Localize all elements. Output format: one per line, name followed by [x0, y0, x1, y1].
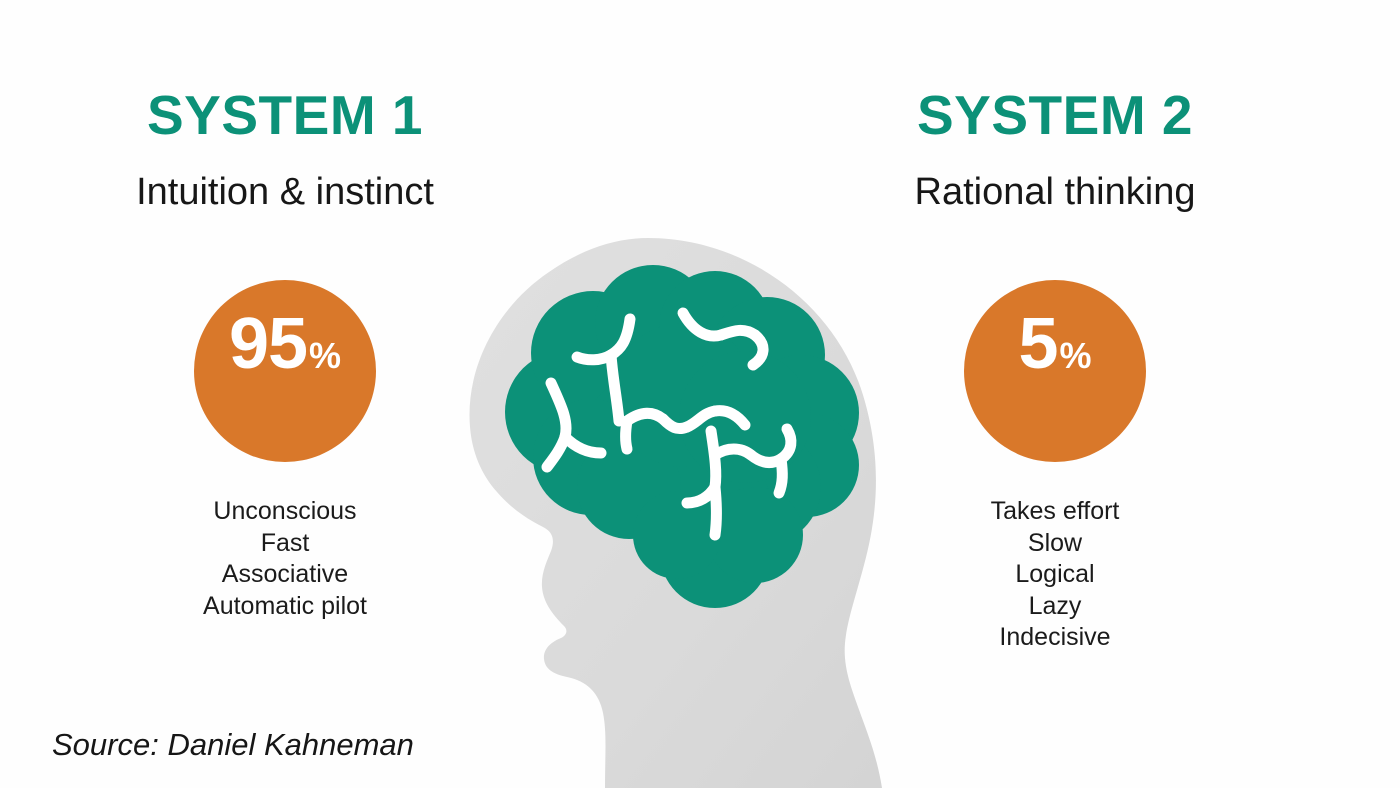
system-1-percent-value: 95: [229, 308, 307, 380]
system-1-percent-badge: 95 %: [194, 280, 376, 462]
system-1-column: SYSTEM 1 Intuition & instinct: [75, 88, 495, 211]
system-2-percent-sign: %: [1060, 338, 1092, 374]
system-1-percent-wrap: 95 %: [75, 280, 495, 462]
system-2-title: SYSTEM 2: [845, 88, 1265, 143]
list-item: Lazy: [845, 591, 1265, 623]
source-attribution: Source: Daniel Kahneman: [52, 727, 414, 763]
list-item: Unconscious: [75, 496, 495, 528]
list-item: Automatic pilot: [75, 591, 495, 623]
list-item: Takes effort: [845, 496, 1265, 528]
infographic-canvas: SYSTEM 1 Intuition & instinct 95 % Uncon…: [0, 0, 1400, 788]
system-2-percent-value: 5: [1018, 308, 1057, 380]
list-item: Slow: [845, 528, 1265, 560]
list-item: Associative: [75, 559, 495, 591]
system-1-percent-sign: %: [309, 338, 341, 374]
system-1-subtitle: Intuition & instinct: [75, 173, 495, 211]
system-2-attribute-list: Takes effort Slow Logical Lazy Indecisiv…: [845, 496, 1265, 654]
system-2-percent-wrap: 5 %: [845, 280, 1265, 462]
list-item: Indecisive: [845, 622, 1265, 654]
system-1-attribute-list: Unconscious Fast Associative Automatic p…: [75, 496, 495, 622]
system-2-subtitle: Rational thinking: [845, 173, 1265, 211]
system-1-title: SYSTEM 1: [75, 88, 495, 143]
system-2-percent-badge: 5 %: [964, 280, 1146, 462]
system-2-column: SYSTEM 2 Rational thinking: [845, 88, 1265, 211]
list-item: Logical: [845, 559, 1265, 591]
list-item: Fast: [75, 528, 495, 560]
